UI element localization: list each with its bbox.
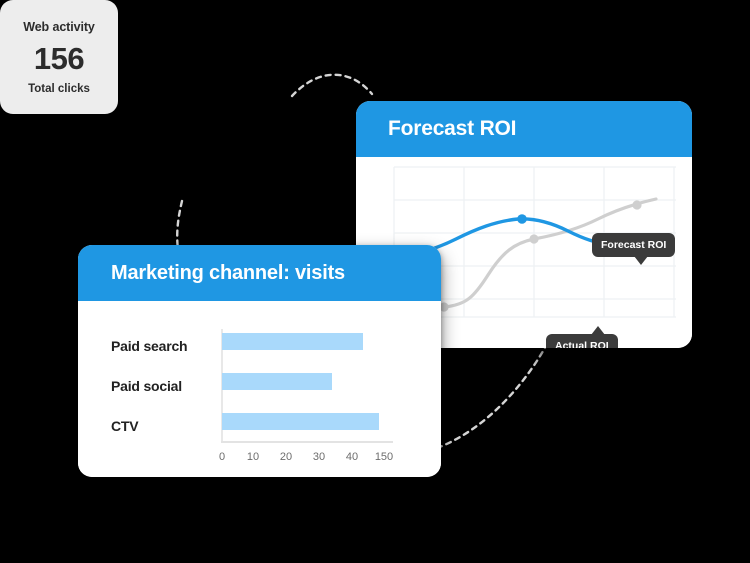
bar-xtick-2: 20 — [274, 451, 298, 463]
tooltip-tail-icon — [591, 326, 605, 335]
tooltip-actual-roi-label: Actual ROI — [555, 340, 609, 348]
marketing-bar-chart: Paid search Paid social CTV 0 10 20 30 4… — [78, 301, 441, 477]
bar-category-label-1: Paid social — [111, 378, 182, 394]
bar-ctv[interactable] — [222, 413, 379, 430]
web-activity-value: 156 — [34, 43, 84, 74]
bar-category-label-2: CTV — [111, 418, 138, 434]
connector-stat-to-marketing — [177, 201, 182, 250]
bar-xtick-5: 150 — [372, 451, 396, 463]
marketing-card-title: Marketing channel: visits — [111, 262, 345, 285]
tooltip-tail-icon — [634, 256, 648, 265]
web-activity-card[interactable]: Web activity 156 Total clicks — [0, 0, 118, 114]
bar-paid-social[interactable] — [222, 373, 332, 390]
bar-chart-x-axis — [221, 441, 393, 443]
bar-xtick-3: 30 — [307, 451, 331, 463]
forecast-card-title: Forecast ROI — [388, 117, 516, 141]
forecast-card-header: Forecast ROI — [356, 101, 692, 157]
connector-marketing-to-forecast — [437, 346, 546, 448]
connector-stat-to-forecast — [292, 75, 372, 96]
dashboard-canvas: Forecast ROI — [0, 0, 750, 563]
marketing-card-body: Paid search Paid social CTV 0 10 20 30 4… — [78, 301, 441, 477]
data-point-forecast-2 — [529, 234, 538, 243]
data-point-forecast-3 — [632, 200, 641, 209]
bar-paid-search[interactable] — [222, 333, 363, 350]
bar-xtick-1: 10 — [241, 451, 265, 463]
bar-xtick-0: 0 — [210, 451, 234, 463]
bar-category-label-0: Paid search — [111, 338, 187, 354]
tooltip-forecast-roi-label: Forecast ROI — [601, 239, 666, 251]
marketing-card-header: Marketing channel: visits — [78, 245, 441, 301]
bar-xtick-4: 40 — [340, 451, 364, 463]
web-activity-subtitle: Total clicks — [28, 83, 90, 95]
tooltip-forecast-roi[interactable]: Forecast ROI — [592, 233, 675, 257]
data-point-actual-1 — [517, 214, 527, 224]
web-activity-title: Web activity — [23, 20, 95, 34]
marketing-channel-card[interactable]: Marketing channel: visits Paid search Pa… — [78, 245, 441, 477]
tooltip-actual-roi[interactable]: Actual ROI — [546, 334, 618, 348]
